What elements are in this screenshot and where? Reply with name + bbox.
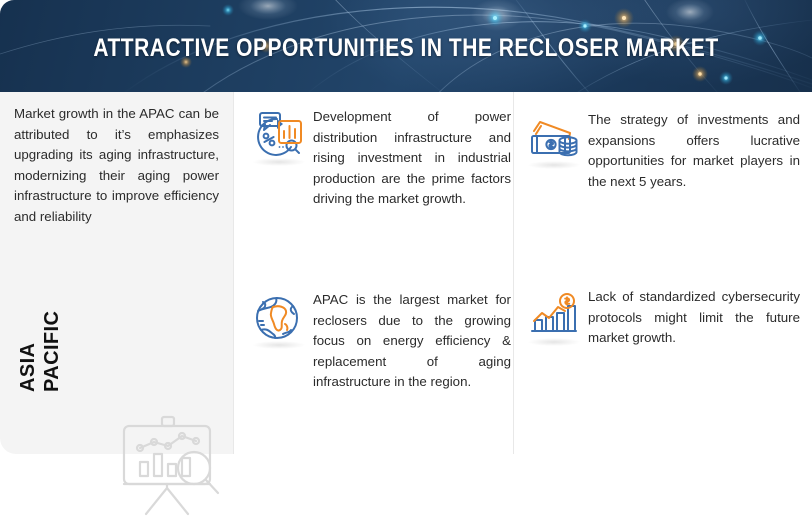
fact-card-cybersecurity: Lack of standardized cybersecurity proto… <box>524 287 806 349</box>
column-divider-2 <box>513 92 514 454</box>
region-label: ASIA PACIFIC <box>16 332 64 392</box>
region-summary-text: Market growth in the APAC can be attribu… <box>14 104 219 227</box>
fact-card-investment: The strategy of investments and expansio… <box>524 110 806 192</box>
fact-card-apac-largest: APAC is the largest market for reclosers… <box>249 290 511 393</box>
header-banner: ATTRACTIVE OPPORTUNITIES IN THE RECLOSER… <box>0 0 812 92</box>
globe-icon <box>249 290 307 348</box>
bar-chart-growth-dollar-icon <box>524 287 582 345</box>
region-panel: Market growth in the APAC can be attribu… <box>0 92 233 454</box>
money-cash-coins-icon <box>524 110 582 168</box>
fact-card-text: Lack of standardized cybersecurity proto… <box>588 287 800 349</box>
region-label-line1: ASIA <box>16 332 40 392</box>
icon-shadow <box>253 158 305 166</box>
region-label-line2: PACIFIC <box>40 332 64 392</box>
icon-shadow <box>528 338 580 346</box>
column-divider-1 <box>233 92 234 454</box>
fact-card-text: Development of power distribution infras… <box>313 107 511 210</box>
icon-shadow <box>528 161 580 169</box>
presentation-chart-magnifier-icon <box>110 412 230 522</box>
icon-shadow <box>253 341 305 349</box>
fact-card-development: Development of power distribution infras… <box>249 107 511 210</box>
page-title: ATTRACTIVE OPPORTUNITIES IN THE RECLOSER… <box>65 0 747 92</box>
content-area: Market growth in the APAC can be attribu… <box>0 92 812 454</box>
chart-analysis-percent-icon <box>249 107 307 165</box>
fact-card-text: APAC is the largest market for reclosers… <box>313 290 511 393</box>
fact-card-text: The strategy of investments and expansio… <box>588 110 800 192</box>
